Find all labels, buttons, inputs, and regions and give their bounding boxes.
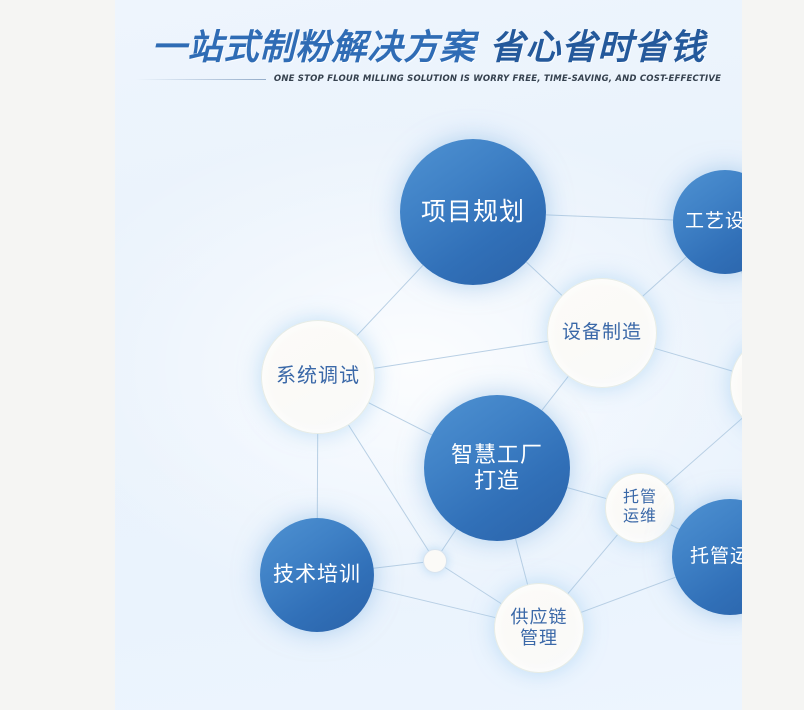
content-panel: 一站式制粉解决方案省心省时省钱 ONE STOP FLOUR MILLING S…: [115, 0, 742, 710]
edge-process-design-equipment-mfg: [643, 257, 687, 296]
node-label-technical-training: 技术培训: [273, 563, 361, 587]
edge-managed-ops-small-managed-ops-large: [671, 525, 679, 530]
node-label-smart-factory: 智慧工厂 打造: [451, 442, 543, 493]
node-label-process-design: 工艺设计: [685, 211, 742, 233]
page-title-part1: 一站式制粉解决方案: [151, 28, 475, 68]
node-label-supply-chain: 供应链 管理: [511, 607, 568, 649]
edge-equipment-mfg-engineering-impl: [655, 348, 732, 371]
header: 一站式制粉解决方案省心省时省钱 ONE STOP FLOUR MILLING S…: [115, 26, 742, 84]
edge-equipment-mfg-smart-factory: [542, 376, 568, 410]
edge-system-debug-junction: [349, 425, 429, 551]
edge-technical-training-supply-chain: [372, 588, 495, 617]
edge-system-debug-smart-factory: [369, 403, 432, 435]
edge-smart-factory-managed-ops-small: [567, 488, 606, 499]
edge-project-planning-system-debug: [357, 265, 423, 335]
edge-equipment-mfg-system-debug: [374, 341, 547, 368]
edge-junction-supply-chain: [445, 567, 501, 603]
edge-smart-factory-supply-chain: [516, 539, 528, 585]
page-root: 一站式制粉解决方案省心省时省钱 ONE STOP FLOUR MILLING S…: [0, 0, 804, 710]
node-junction[interactable]: [423, 549, 447, 573]
edge-project-planning-equipment-mfg: [526, 262, 562, 295]
page-title-part2: 省心省时省钱: [490, 28, 706, 68]
node-smart-factory[interactable]: 智慧工厂 打造: [424, 395, 570, 541]
edge-managed-ops-small-supply-chain: [568, 535, 617, 594]
page-title: 一站式制粉解决方案省心省时省钱: [115, 26, 742, 70]
node-project-planning[interactable]: 项目规划: [400, 139, 546, 285]
node-equipment-mfg[interactable]: 设备制造: [547, 278, 657, 388]
divider-rule: [136, 79, 266, 80]
edge-managed-ops-large-supply-chain: [581, 577, 675, 612]
subtitle-english: ONE STOP FLOUR MILLING SOLUTION IS WORRY…: [274, 74, 721, 84]
node-label-project-planning: 项目规划: [421, 198, 525, 227]
node-label-managed-ops-large: 托管运维: [690, 546, 742, 568]
node-supply-chain[interactable]: 供应链 管理: [494, 583, 584, 673]
node-label-equipment-mfg: 设备制造: [562, 322, 642, 344]
edge-smart-factory-junction: [442, 529, 457, 551]
subtitle-row: ONE STOP FLOUR MILLING SOLUTION IS WORRY…: [115, 74, 742, 84]
edge-project-planning-process-design: [546, 215, 673, 220]
node-managed-ops-small[interactable]: 托管 运维: [605, 473, 675, 543]
node-system-debug[interactable]: 系统调试: [261, 320, 375, 434]
edge-engineering-impl-managed-ops-small: [666, 418, 742, 485]
node-technical-training[interactable]: 技术培训: [260, 518, 374, 632]
node-label-system-debug: 系统调试: [276, 365, 360, 388]
edge-technical-training-junction: [374, 562, 423, 568]
process-network-diagram: 项目规划工艺设计设备制造系统调试工程实施智慧工厂 打造托管 运维托管运维技术培训…: [115, 0, 742, 710]
node-label-managed-ops-small: 托管 运维: [623, 489, 657, 526]
